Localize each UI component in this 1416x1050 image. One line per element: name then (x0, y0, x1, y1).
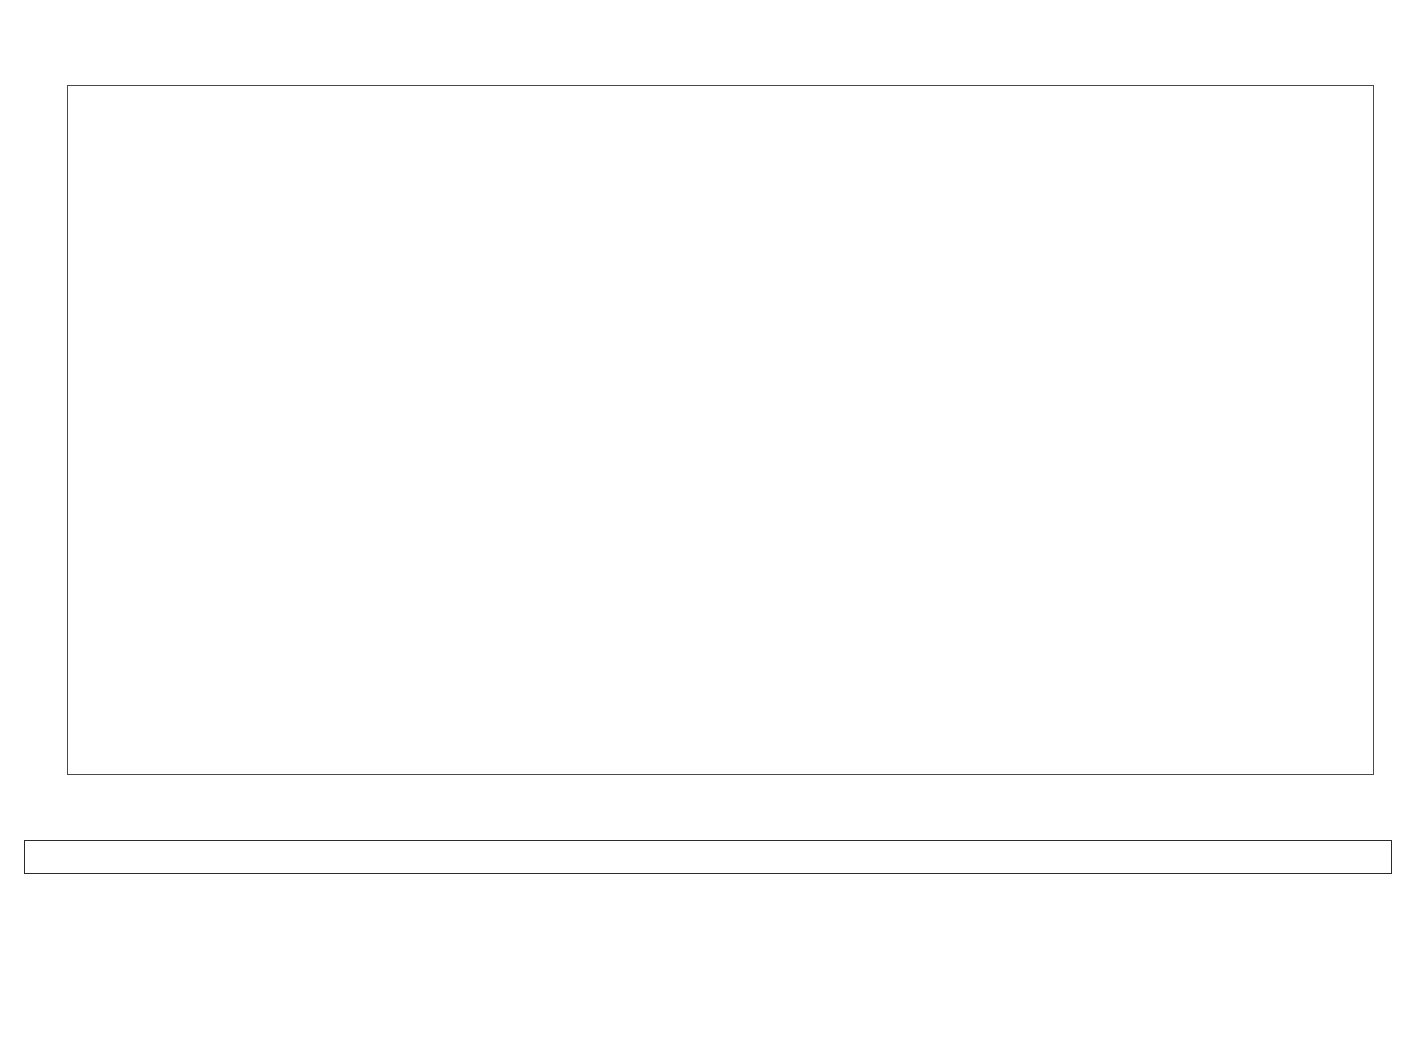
map-plot-area[interactable] (67, 85, 1374, 775)
colorbar[interactable] (24, 840, 1392, 874)
colorbar-gradient[interactable] (24, 840, 1392, 874)
rainfall-skill-heatmap[interactable] (67, 85, 1374, 775)
figure-root (0, 0, 1416, 1050)
figure-footer (0, 946, 1416, 1016)
